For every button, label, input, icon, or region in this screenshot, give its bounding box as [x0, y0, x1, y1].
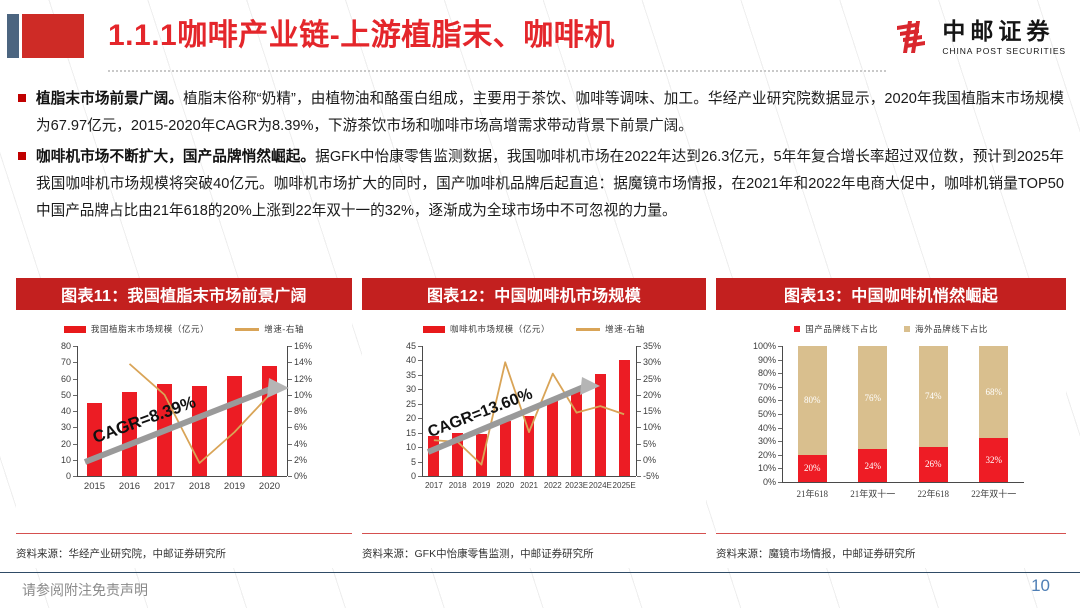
data-label-domestic: 26% — [925, 459, 942, 469]
company-logo: 中邮证券 CHINA POST SECURITIES — [894, 16, 1066, 60]
y-tick-label: 50% — [758, 409, 776, 419]
legend-label-line: 增速-右轴 — [605, 323, 645, 335]
header-divider — [108, 70, 888, 72]
cagr-arrow-icon — [398, 342, 670, 494]
chart-11-body: 我国植脂末市场规模（亿元） 增速-右轴 010203040506070800%2… — [16, 310, 352, 536]
legend-item-overseas: 海外品牌线下占比 — [904, 323, 988, 335]
data-label-overseas: 80% — [804, 395, 821, 405]
y-tick-label: 80% — [758, 368, 776, 378]
y-axis — [782, 346, 783, 482]
logo-text: 中邮证券 CHINA POST SECURITIES — [942, 20, 1066, 56]
data-label-domestic: 20% — [804, 463, 821, 473]
legend-item-line: 增速-右轴 — [576, 323, 645, 335]
accent-bar-blue — [7, 14, 19, 58]
legend-swatch-line-icon — [235, 328, 259, 331]
tick-mark — [778, 414, 782, 415]
logo-name-cn: 中邮证券 — [942, 20, 1066, 43]
legend-item-line: 增速-右轴 — [235, 323, 304, 335]
y-tick-label: 40% — [758, 423, 776, 433]
bullet-square-icon — [18, 152, 26, 160]
chart-card-12: 图表12：中国咖啡机市场规模 咖啡机市场规模（亿元） 增速-右轴 0510152… — [362, 278, 706, 568]
legend-label-domestic: 国产品牌线下占比 — [805, 323, 878, 335]
y-tick-label: 60% — [758, 395, 776, 405]
paragraph-1: 植脂末市场前景广阔。植脂末俗称“奶精”，由植物油和酪蛋白组成，主要用于茶饮、咖啡… — [18, 86, 1064, 140]
charts-row: 图表11：我国植脂末市场前景广阔 我国植脂末市场规模（亿元） 增速-右轴 010… — [16, 278, 1066, 568]
legend-label-bar: 我国植脂末市场规模（亿元） — [91, 323, 209, 335]
x-tick-label: 21年双十一 — [850, 487, 895, 500]
x-tick-label: 22年618 — [917, 487, 949, 500]
data-label-overseas: 74% — [925, 391, 942, 401]
chart-12-body: 咖啡机市场规模（亿元） 增速-右轴 051015202530354045-5%0… — [362, 310, 706, 536]
chart-13-legend: 国产品牌线下占比 海外品牌线下占比 — [716, 310, 1066, 342]
legend-swatch-overseas-icon — [904, 326, 910, 332]
y-tick-label: 90% — [758, 355, 776, 365]
paragraph-1-body: 植脂末俗称“奶精”，由植物油和酪蛋白组成，主要用于茶饮、咖啡等调味、加工。华经产… — [36, 91, 1064, 134]
chart-13-body: 国产品牌线下占比 海外品牌线下占比 0%10%20%30%40%50%60%70… — [716, 310, 1066, 536]
tick-mark — [778, 468, 782, 469]
paragraph-2-text: 咖啡机市场不断扩大，国产品牌悄然崛起。据GFK中怡康零售监测数据，我国咖啡机市场… — [36, 144, 1064, 225]
data-label-overseas: 68% — [986, 387, 1003, 397]
logo-name-en: CHINA POST SECURITIES — [942, 47, 1066, 56]
tick-mark — [778, 346, 782, 347]
body-content: 植脂末市场前景广阔。植脂末俗称“奶精”，由植物油和酪蛋白组成，主要用于茶饮、咖啡… — [18, 86, 1064, 229]
chart-card-11: 图表11：我国植脂末市场前景广阔 我国植脂末市场规模（亿元） 增速-右轴 010… — [16, 278, 352, 568]
chart-13-source: 资料来源：魔镜市场情报，中邮证券研究所 — [716, 533, 1066, 568]
tick-mark — [778, 387, 782, 388]
data-label-domestic: 32% — [986, 455, 1003, 465]
cagr-arrow-icon — [51, 342, 317, 494]
tick-mark — [778, 360, 782, 361]
legend-label-line: 增速-右轴 — [264, 323, 304, 335]
page-number: 10 — [1031, 576, 1050, 596]
tick-mark — [778, 455, 782, 456]
chart-11-title: 图表11：我国植脂末市场前景广阔 — [16, 278, 352, 310]
chart-12-plot: 051015202530354045-5%0%5%10%15%20%25%30%… — [398, 342, 670, 494]
bullet-square-icon — [18, 94, 26, 102]
data-label-domestic: 24% — [865, 461, 882, 471]
page-title: 1.1.1咖啡产业链-上游植脂末、咖啡机 — [108, 14, 615, 58]
paragraph-1-lead: 植脂末市场前景广阔。 — [36, 91, 183, 107]
chart-11-legend: 我国植脂末市场规模（亿元） 增速-右轴 — [16, 310, 352, 342]
legend-swatch-bar-icon — [423, 326, 445, 333]
china-post-logo-icon — [894, 21, 934, 55]
paragraph-1-text: 植脂末市场前景广阔。植脂末俗称“奶精”，由植物油和酪蛋白组成，主要用于茶饮、咖啡… — [36, 86, 1064, 140]
y-tick-label: 100% — [753, 341, 776, 351]
y-tick-label: 0% — [763, 477, 776, 487]
y-tick-label: 70% — [758, 382, 776, 392]
y-tick-label: 30% — [758, 436, 776, 446]
tick-mark — [778, 373, 782, 374]
tick-mark — [778, 482, 782, 483]
y-tick-label: 10% — [758, 463, 776, 473]
data-label-overseas: 76% — [865, 393, 882, 403]
footer-disclaimer: 请参阅附注免责声明 — [22, 580, 148, 600]
chart-13-plot: 0%10%20%30%40%50%60%70%80%90%100%20%80%2… — [752, 342, 1030, 502]
chart-11-plot: 010203040506070800%2%4%6%8%10%12%14%16%2… — [51, 342, 317, 494]
chart-12-legend: 咖啡机市场规模（亿元） 增速-右轴 — [362, 310, 706, 342]
legend-item-bar: 咖啡机市场规模（亿元） — [423, 323, 550, 335]
legend-item-domestic: 国产品牌线下占比 — [794, 323, 878, 335]
chart-11-source: 资料来源：华经产业研究院，中邮证券研究所 — [16, 533, 352, 568]
legend-swatch-line-icon — [576, 328, 600, 331]
chart-card-13: 图表13：中国咖啡机悄然崛起 国产品牌线下占比 海外品牌线下占比 0%10%20… — [716, 278, 1066, 568]
chart-12-source: 资料来源：GFK中怡康零售监测，中邮证券研究所 — [362, 533, 706, 568]
legend-label-overseas: 海外品牌线下占比 — [915, 323, 988, 335]
paragraph-2-lead: 咖啡机市场不断扩大，国产品牌悄然崛起。 — [36, 149, 315, 165]
slide: 1.1.1咖啡产业链-上游植脂末、咖啡机 中邮证券 CHINA POST SE — [0, 0, 1080, 608]
tick-mark — [778, 428, 782, 429]
legend-swatch-bar-icon — [64, 326, 86, 333]
paragraph-2: 咖啡机市场不断扩大，国产品牌悄然崛起。据GFK中怡康零售监测数据，我国咖啡机市场… — [18, 144, 1064, 225]
legend-swatch-domestic-icon — [794, 326, 800, 332]
legend-label-bar: 咖啡机市场规模（亿元） — [450, 323, 550, 335]
footer-divider — [0, 572, 1080, 573]
chart-13-title: 图表13：中国咖啡机悄然崛起 — [716, 278, 1066, 310]
x-tick-label: 22年双十一 — [971, 487, 1016, 500]
x-tick-label: 21年618 — [796, 487, 828, 500]
accent-bar-red — [22, 14, 84, 58]
chart-12-title: 图表12：中国咖啡机市场规模 — [362, 278, 706, 310]
y-tick-label: 20% — [758, 450, 776, 460]
x-axis — [782, 482, 1024, 483]
legend-item-bar: 我国植脂末市场规模（亿元） — [64, 323, 209, 335]
tick-mark — [778, 400, 782, 401]
tick-mark — [778, 441, 782, 442]
slide-header: 1.1.1咖啡产业链-上游植脂末、咖啡机 中邮证券 CHINA POST SE — [0, 0, 1080, 76]
